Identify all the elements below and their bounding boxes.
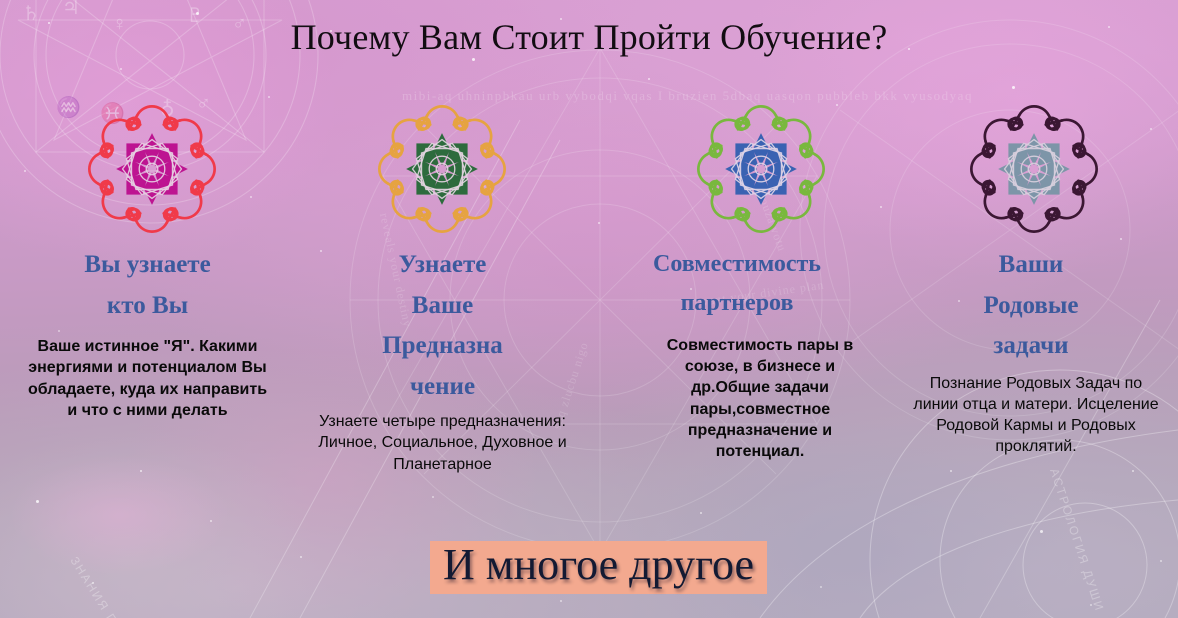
feature-body: Ваше истинное "Я". Какими энергиями и по… [28,336,268,421]
feature-body: Узнаете четыре предназначения: Личное, С… [309,411,577,475]
heading-line: чение [295,367,590,408]
feature-heading: Узнаете Ваше Предназна чение [295,245,590,407]
mandala-lotus-icon [969,105,1099,233]
heading-line: Родовые [884,286,1178,327]
bottom-banner: И многое другое [430,541,767,594]
feature-column-4: Ваши Родовые задачи Познание Родовых Зад… [884,105,1178,525]
heading-line: Совместимость [590,245,884,284]
heading-line: Вы узнаете [0,245,295,286]
feature-column-1: Вы узнаете кто Вы Ваше истинное "Я". Как… [0,105,295,525]
feature-columns: Вы узнаете кто Вы Ваше истинное "Я". Как… [0,105,1178,525]
heading-line: Ваше [295,286,590,327]
mandala-lotus-icon [377,105,507,233]
feature-heading: Совместимость партнеров [590,245,884,323]
page-title: Почему Вам Стоит Пройти Обучение? [0,16,1178,58]
mandala-lotus-icon [87,105,217,233]
heading-line: Узнаете [295,245,590,286]
feature-body: Совместимость пары в союзе, в бизнесе и … [655,335,865,463]
mandala-lotus-icon [696,105,826,233]
svg-text:mibi-aq uhninpbkau urb vybodqi: mibi-aq uhninpbkau urb vybodqi vqas I br… [402,88,973,103]
heading-line: задачи [884,326,1178,367]
feature-column-2: Узнаете Ваше Предназна чение Узнаете чет… [295,105,590,525]
svg-text:ЗНАНИЯ ПРЕДКОВ: ЗНАНИЯ ПРЕДКОВ [67,554,152,618]
feature-body: Познание Родовых Задач по линии отца и м… [911,373,1161,458]
heading-line: кто Вы [0,286,295,327]
feature-heading: Ваши Родовые задачи [884,245,1178,367]
slide-canvas: mibi-aq uhninpbkau urb vybodqi vqas I br… [0,0,1178,618]
heading-line: Ваши [884,245,1178,286]
heading-line: партнеров [590,284,884,323]
bottom-banner-text: И многое другое [443,543,754,588]
heading-line: Предназна [295,326,590,367]
feature-column-3: Совместимость партнеров Совместимость па… [590,105,884,525]
feature-heading: Вы узнаете кто Вы [0,245,295,326]
